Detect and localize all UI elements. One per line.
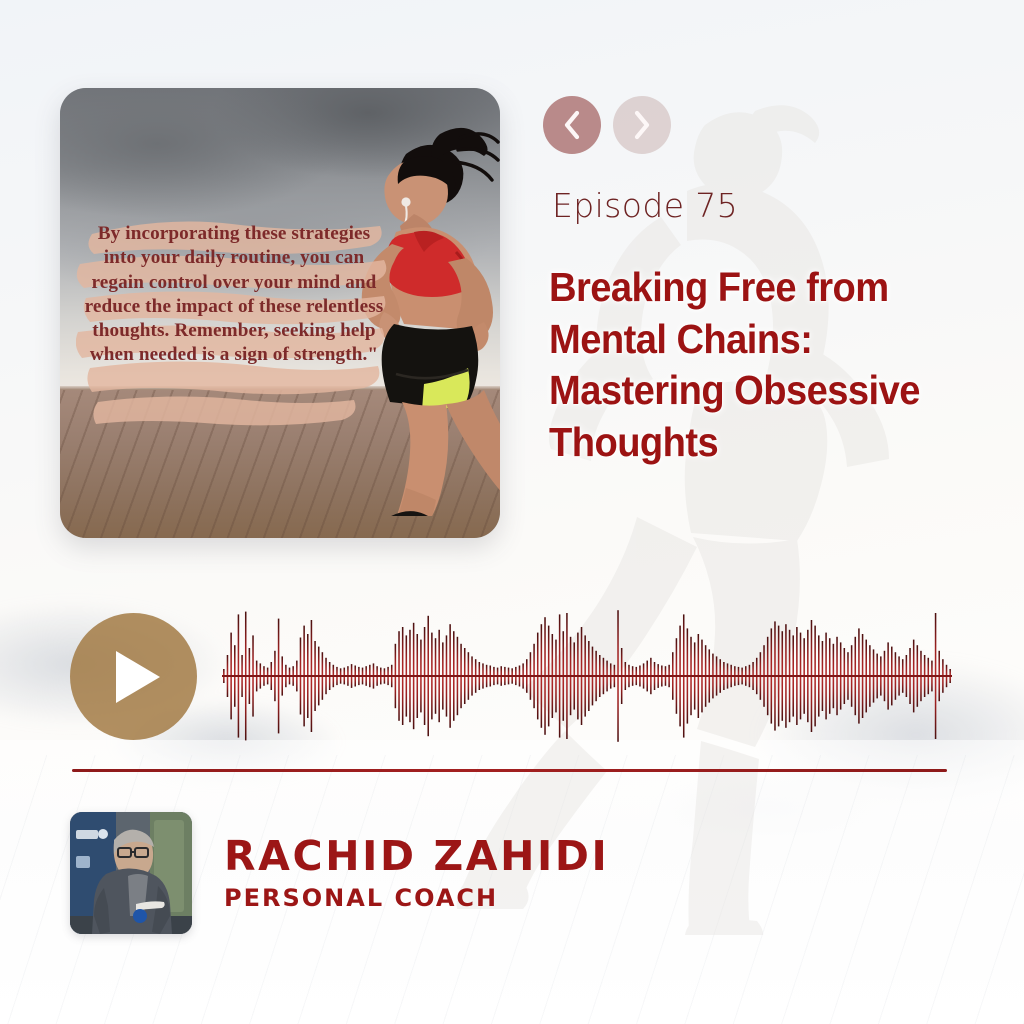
play-triangle-icon [103,648,164,706]
host-avatar [70,812,192,934]
chevron-right-icon [631,110,653,140]
host-row: RACHID ZAHIDI PERSONAL COACH [70,812,609,934]
quote-text: By incorporating these strategies into y… [84,222,384,368]
host-text-block: RACHID ZAHIDI PERSONAL COACH [224,835,609,911]
audio-waveform[interactable] [222,602,952,750]
section-divider [72,769,947,772]
host-name: RACHID ZAHIDI [224,835,609,878]
host-role: PERSONAL COACH [224,885,609,911]
episode-nav [543,96,671,154]
previous-episode-button[interactable] [543,96,601,154]
play-button[interactable] [70,613,197,740]
next-episode-button[interactable] [613,96,671,154]
chevron-left-icon [561,110,583,140]
podcast-episode-poster: By incorporating these strategies into y… [0,0,1024,1024]
quote-image-card[interactable]: By incorporating these strategies into y… [60,88,500,538]
episode-number-label: Episode 75 [552,186,738,225]
episode-title: Breaking Free from Mental Chains: Master… [549,262,921,469]
